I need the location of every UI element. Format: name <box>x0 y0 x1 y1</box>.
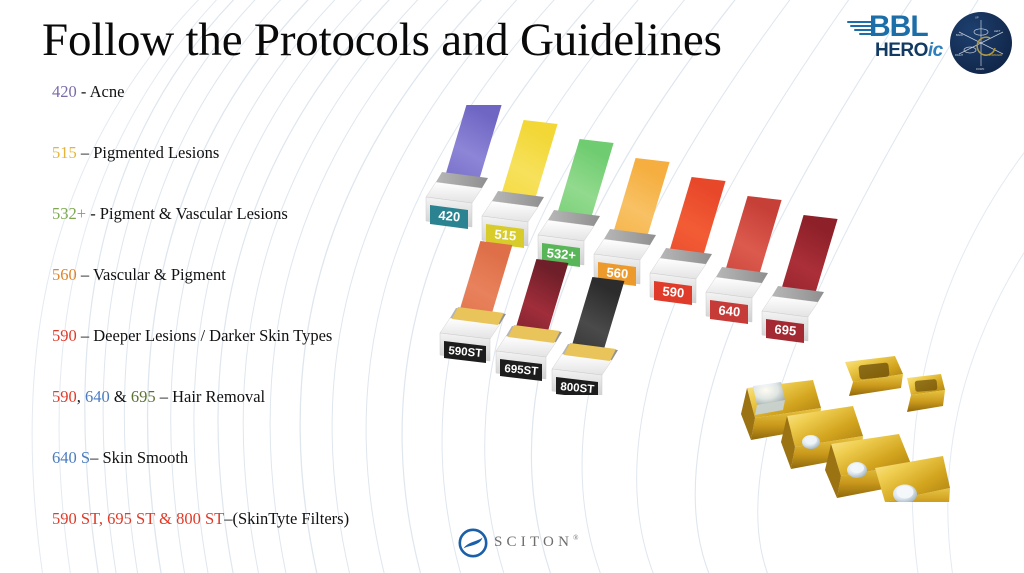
sciton-company-name: SCITON <box>494 534 573 550</box>
svg-text:UP: UP <box>975 16 979 20</box>
sciton-swirl-icon <box>458 528 488 558</box>
bullet-420-acne: 420 - Acne <box>52 84 492 145</box>
bullet-420-acne-seg-0: 420 <box>52 82 77 101</box>
bullet-420-acne-seg-1: - Acne <box>77 82 125 101</box>
axis-orientation-badge-icon: UP BACK LEFT RIGHT DOWN FORWARD <box>950 12 1012 74</box>
bullet-hair-removal-seg-0: 590 <box>52 387 77 406</box>
bullet-skintyte-filters-seg-0: 590 ST, 695 ST & 800 ST <box>52 509 224 528</box>
bullet-skintyte-filters: 590 ST, 695 ST & 800 ST–(SkinTyte Filter… <box>52 511 492 572</box>
gold-adapter-frame-rear <box>845 356 903 396</box>
bullet-640s-skin-smooth: 640 S– Skin Smooth <box>52 450 492 511</box>
bullet-532-pigment-vascular-lesions-seg-1: - Pigment & Vascular Lesions <box>86 204 288 223</box>
bullet-590-deeper-lesions-seg-1: – Deeper Lesions / Darker Skin Types <box>77 326 333 345</box>
filter-label-800st: 800ST <box>560 381 595 395</box>
bullet-hair-removal: 590, 640 & 695 – Hair Removal <box>52 389 492 450</box>
heroic-logo-wordmark: HEROic <box>875 41 943 60</box>
filter-cartridge-695: 695 <box>762 215 838 343</box>
bullet-640s-skin-smooth-seg-1: – Skin Smooth <box>90 448 188 467</box>
filter-label-532+: 532+ <box>546 245 577 263</box>
bullet-560-vascular-pigment-seg-1: – Vascular & Pigment <box>77 265 226 284</box>
filter-cartridge-800st: 800ST <box>552 277 624 395</box>
bullet-hair-removal-seg-2: 640 <box>85 387 110 406</box>
page-title: Follow the Protocols and Guidelines <box>42 16 722 65</box>
bullet-515-pigmented-lesions-seg-1: – Pigmented Lesions <box>77 143 220 162</box>
svg-text:LEFT: LEFT <box>994 29 1001 33</box>
bullet-640s-skin-smooth-seg-0: 640 S <box>52 448 90 467</box>
filter-label-640: 640 <box>718 303 741 320</box>
bullet-skintyte-filters-seg-1: –(SkinTyte Filters) <box>224 509 349 528</box>
bullet-590-deeper-lesions: 590 – Deeper Lesions / Darker Skin Types <box>52 328 492 389</box>
bullet-515-pigmented-lesions: 515 – Pigmented Lesions <box>52 145 492 206</box>
bbl-logo-wordmark: BBL <box>869 12 928 42</box>
svg-text:RIGHT: RIGHT <box>955 53 963 57</box>
bullet-hair-removal-seg-5: – Hair Removal <box>156 387 266 406</box>
slide-root: Follow the Protocols and Guidelines BBL … <box>0 0 1024 573</box>
bullet-590-deeper-lesions-seg-0: 590 <box>52 326 77 345</box>
filter-label-560: 560 <box>606 265 629 282</box>
svg-text:DOWN: DOWN <box>976 67 984 71</box>
filter-label-515: 515 <box>494 227 517 244</box>
bullet-515-pigmented-lesions-seg-0: 515 <box>52 143 77 162</box>
gold-adapter-frame-rear-small <box>907 374 945 412</box>
bullet-hair-removal-seg-1: , <box>77 387 85 406</box>
heroic-prefix: HERO <box>875 40 928 61</box>
sciton-trademark: ® <box>573 534 578 542</box>
svg-text:BACK: BACK <box>956 33 963 37</box>
bullet-532-pigment-vascular-lesions: 532+ - Pigment & Vascular Lesions <box>52 206 492 267</box>
bullet-hair-removal-seg-3: & <box>110 387 131 406</box>
heroic-suffix: ic <box>928 40 943 61</box>
bullet-hair-removal-seg-4: 695 <box>131 387 156 406</box>
filter-label-590: 590 <box>662 284 685 301</box>
bullet-560-vascular-pigment-seg-0: 560 <box>52 265 77 284</box>
sciton-wordmark: SCITON® <box>494 534 578 551</box>
protocol-bullet-list: 420 - Acne515 – Pigmented Lesions532+ - … <box>52 84 492 572</box>
bullet-532-pigment-vascular-lesions-seg-0: 532+ <box>52 204 86 223</box>
filter-label-695: 695 <box>774 322 797 339</box>
svg-text:FORWARD: FORWARD <box>989 53 1002 57</box>
sciton-logo: SCITON® <box>458 528 598 562</box>
bbl-heroic-logo: BBL HEROic <box>845 12 945 70</box>
bullet-560-vascular-pigment: 560 – Vascular & Pigment <box>52 267 492 328</box>
gold-adapter-group <box>735 352 950 502</box>
